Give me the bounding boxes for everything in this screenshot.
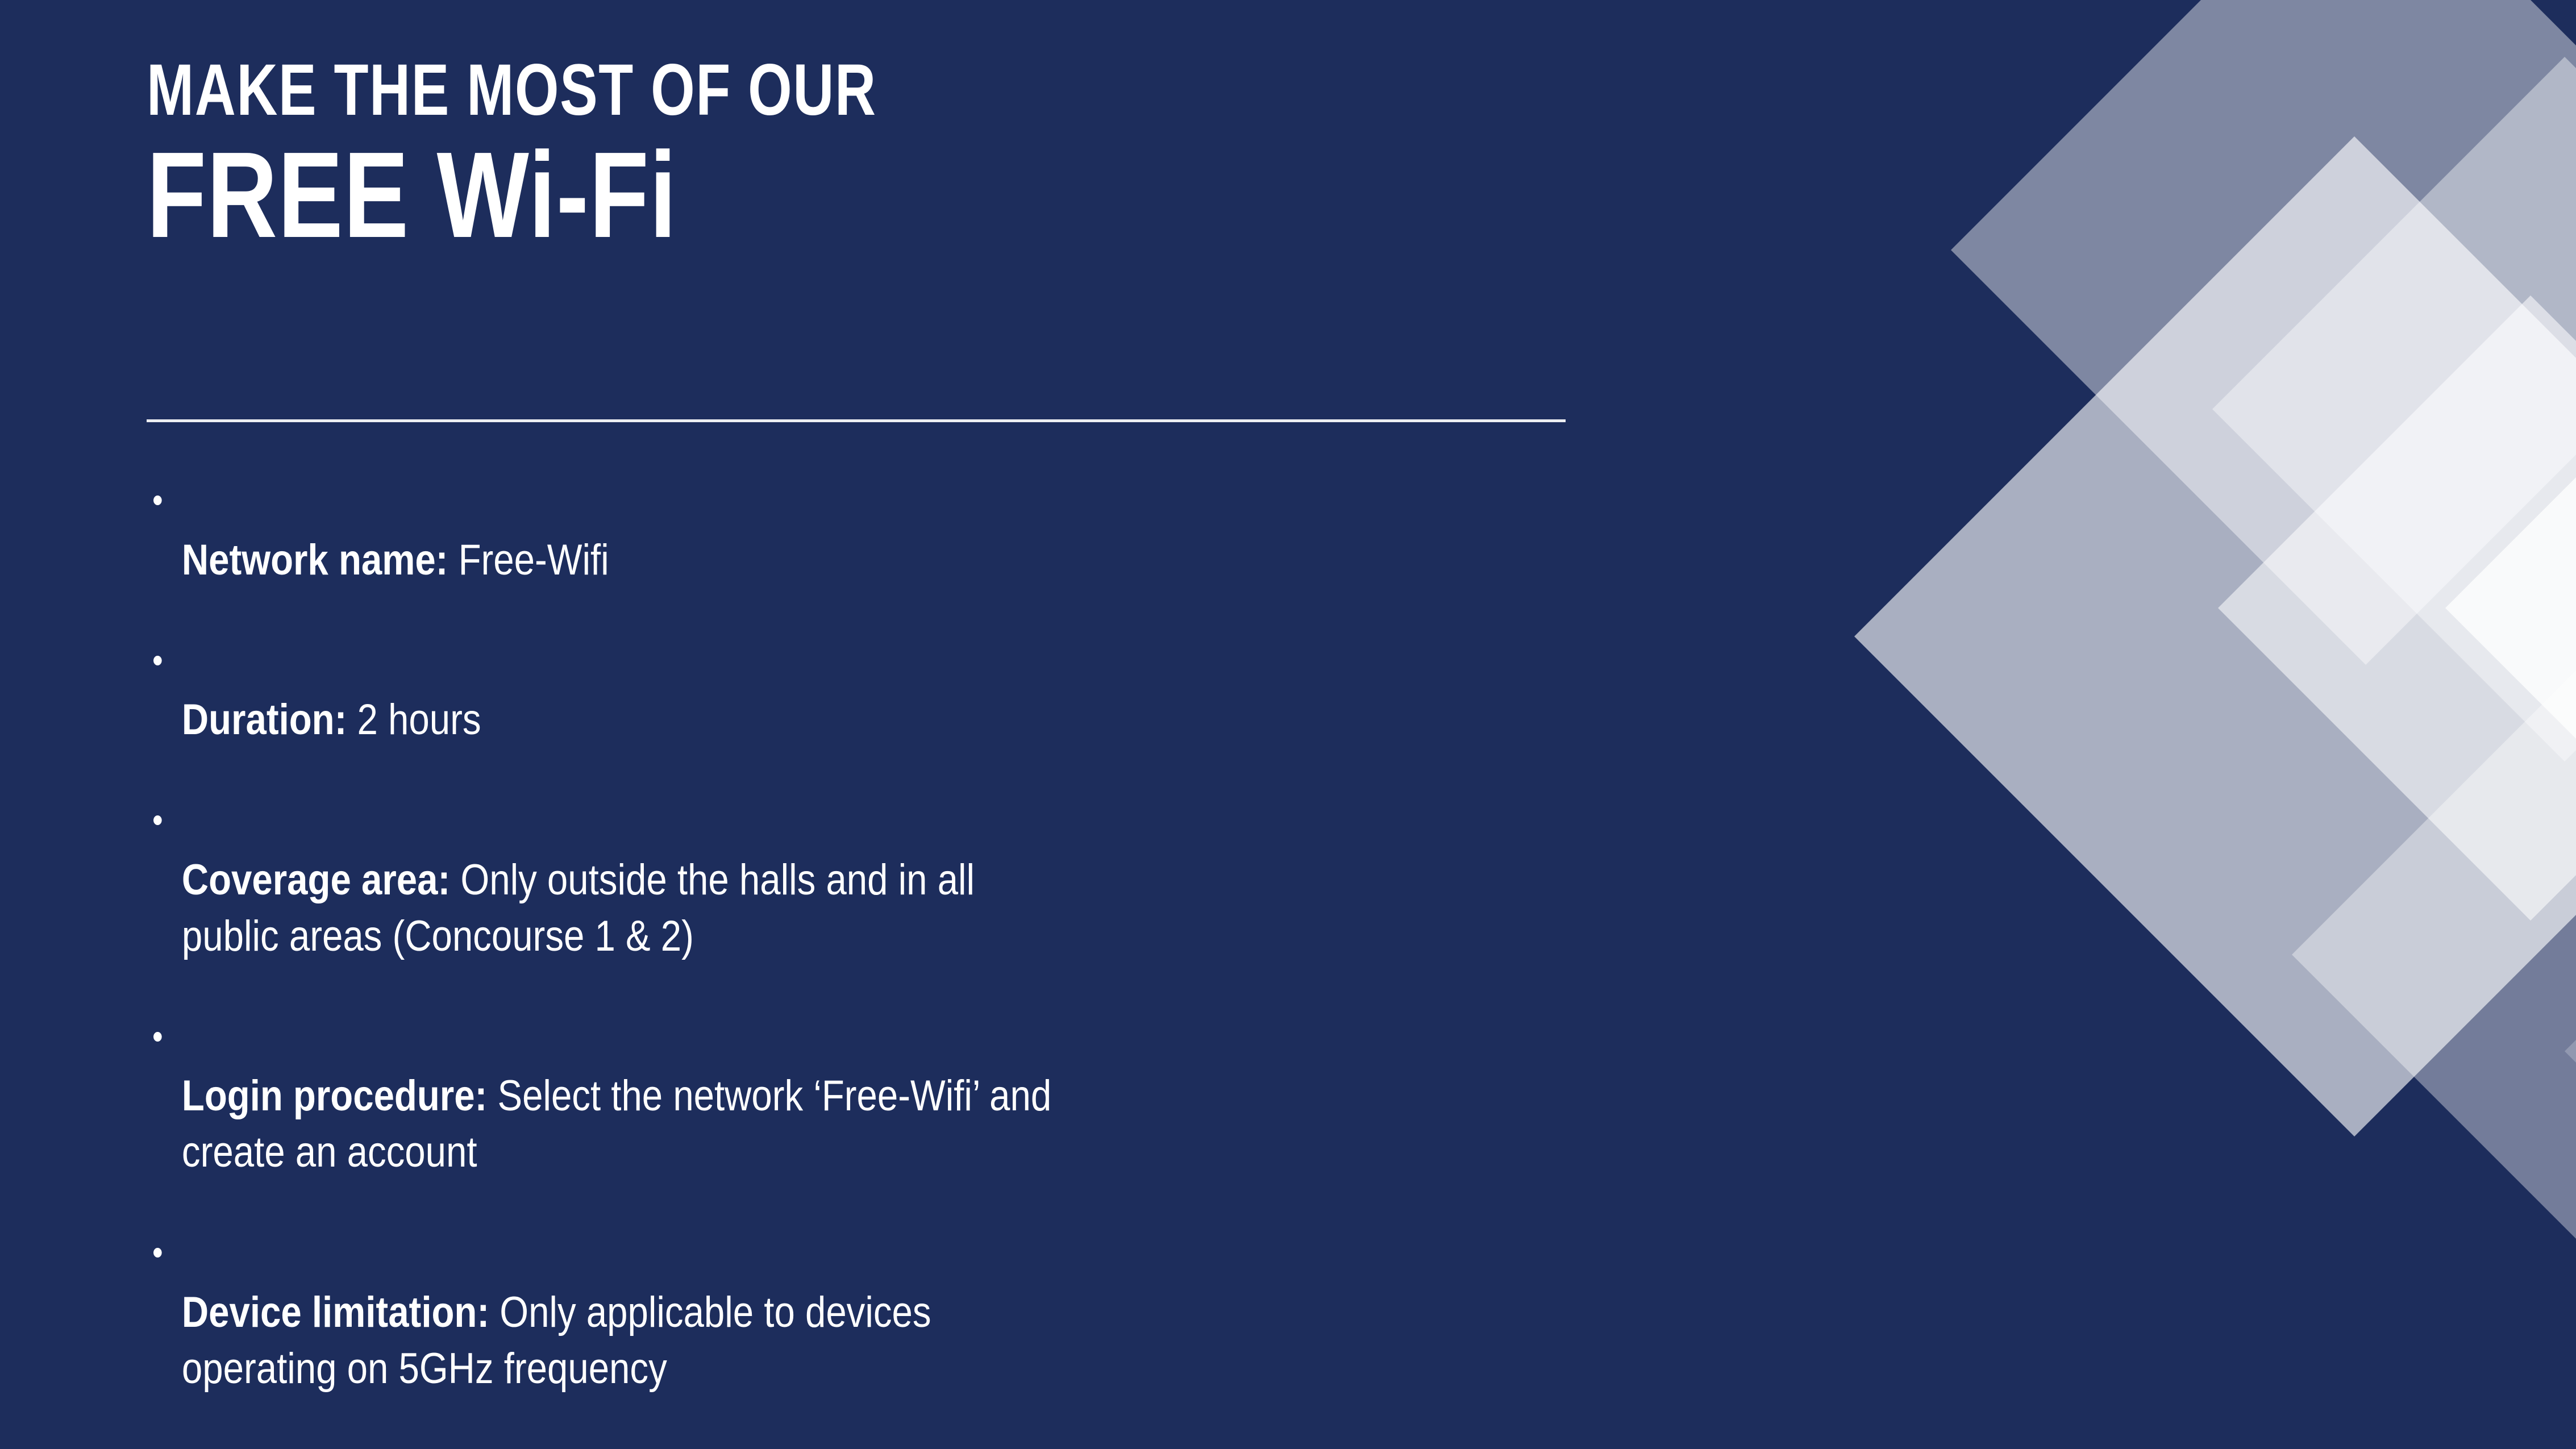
- title-divider: [147, 419, 1566, 422]
- diamond-layer-white-core: [2445, 398, 2576, 818]
- list-item: Login procedure: Select the network ‘Fre…: [147, 1013, 1476, 1181]
- list-item: Coverage area: Only outside the halls an…: [147, 796, 1476, 964]
- bullet-label-device-limitation: Device limitation:: [182, 1288, 489, 1336]
- bullet-label-network-name: Network name:: [182, 536, 448, 584]
- slide-canvas: MAKE THE MOST OF OUR FREE Wi-Fi Network …: [0, 0, 2576, 1449]
- bullet-value-network-name: Free-Wifi: [448, 536, 609, 584]
- headline-kicker: MAKE THE MOST OF OUR: [147, 54, 1299, 127]
- bullet-label-login-procedure: Login procedure:: [182, 1072, 487, 1120]
- bullet-value-duration: 2 hours: [347, 696, 481, 744]
- bullet-label-coverage-area: Coverage area:: [182, 856, 450, 904]
- diamond-layer-mid: [1854, 136, 2576, 1136]
- list-item: Duration: 2 hours: [147, 636, 1476, 749]
- diamond-layer-accent-lr: [2565, 852, 2576, 1250]
- bullet-label-duration: Duration:: [182, 696, 347, 744]
- list-item: Device limitation: Only applicable to de…: [147, 1229, 1476, 1397]
- list-item: Network name: Free-Wifi: [147, 476, 1476, 589]
- content-column: MAKE THE MOST OF OUR FREE Wi-Fi Network …: [147, 0, 1692, 1449]
- diamond-checkerboard-graphic: [1724, 0, 2576, 1449]
- diamond-layer-lightest: [2218, 295, 2576, 921]
- wifi-details-list: Network name: Free-Wifi Duration: 2 hour…: [147, 476, 1692, 1397]
- diamond-layer-dark: [1951, 0, 2576, 665]
- headline-main: FREE Wi-Fi: [147, 131, 1329, 259]
- diamond-layer-light-lr: [2292, 636, 2576, 1273]
- page-title: MAKE THE MOST OF OUR FREE Wi-Fi: [147, 54, 1624, 259]
- diamond-layer-light-ur: [2212, 57, 2576, 761]
